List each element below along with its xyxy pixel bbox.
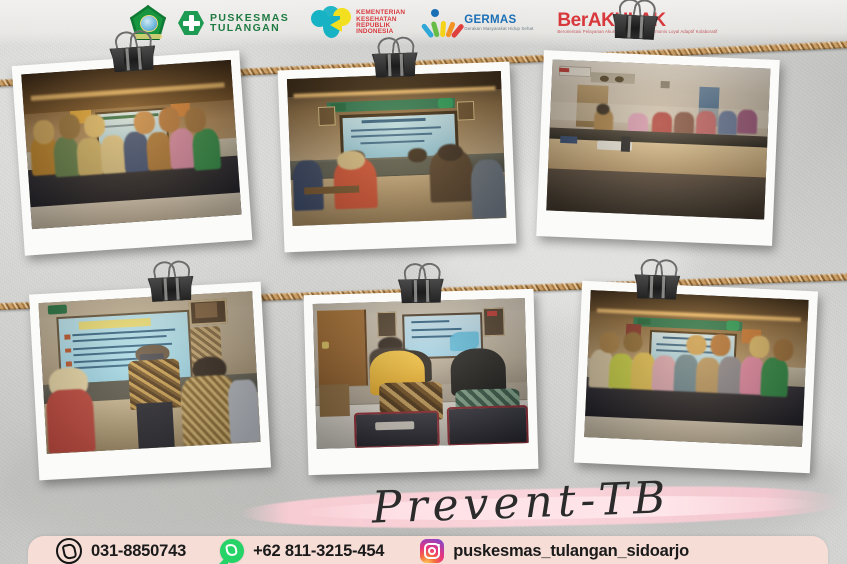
- contact-whatsapp[interactable]: +62 811-3215-454: [220, 539, 384, 563]
- medical-cross-icon: [178, 11, 204, 35]
- contact-instagram[interactable]: puskesmas_tulangan_sidoarjo: [420, 539, 689, 563]
- photo-1-image: [21, 60, 241, 229]
- contact-phone-value: 031-8850743: [91, 542, 186, 561]
- phone-icon: [56, 538, 82, 564]
- photo-5-image: [313, 298, 529, 449]
- photo-card-1[interactable]: [12, 50, 253, 255]
- kemenkes-mark-icon: [311, 6, 351, 40]
- poster-canvas: PUSKESMAS TULANGAN KEMENTERIAN KESEHATAN…: [0, 0, 847, 564]
- puskesmas-tulangan-wordmark: PUSKESMAS TULANGAN: [178, 11, 289, 35]
- photo-card-4[interactable]: [29, 282, 271, 481]
- photo-4-image: [38, 291, 260, 454]
- binder-clip-5: [398, 272, 445, 307]
- binder-clip-4: [147, 269, 195, 305]
- page-title-script: Prevent-TB: [371, 469, 753, 544]
- photo-6-image: [584, 290, 808, 447]
- photo-card-2[interactable]: [278, 62, 517, 253]
- binder-clip-1: [109, 38, 157, 75]
- photo-card-3[interactable]: [536, 50, 780, 246]
- photo-card-5[interactable]: [304, 289, 539, 475]
- contact-whatsapp-value: +62 811-3215-454: [253, 542, 384, 561]
- photo-card-6[interactable]: [574, 281, 818, 474]
- photo-3-image: [546, 60, 770, 220]
- puskesmas-label-line2: TULANGAN: [210, 23, 289, 33]
- contact-instagram-value: puskesmas_tulangan_sidoarjo: [453, 542, 689, 561]
- photo-2-image: [287, 71, 506, 226]
- germas-logo: GERMAS Gerakan Masyarakat Hidup Sehat: [427, 8, 533, 38]
- kemenkes-logo: KEMENTERIAN KESEHATAN REPUBLIK INDONESIA: [311, 6, 405, 40]
- germas-subtitle: Gerakan Masyarakat Hidup Sehat: [464, 27, 533, 31]
- instagram-icon: [420, 539, 444, 563]
- binder-clip-3: [611, 7, 659, 43]
- kemenkes-line4: INDONESIA: [356, 29, 405, 35]
- contact-bar: 031-8850743 +62 811-3215-454 puskesmas_t…: [28, 536, 828, 564]
- binder-clip-6: [633, 267, 680, 303]
- binder-clip-2: [371, 45, 418, 81]
- germas-title: GERMAS: [464, 15, 533, 27]
- whatsapp-icon: [220, 539, 244, 563]
- contact-phone[interactable]: 031-8850743: [56, 538, 186, 564]
- germas-mark-icon: [427, 8, 461, 38]
